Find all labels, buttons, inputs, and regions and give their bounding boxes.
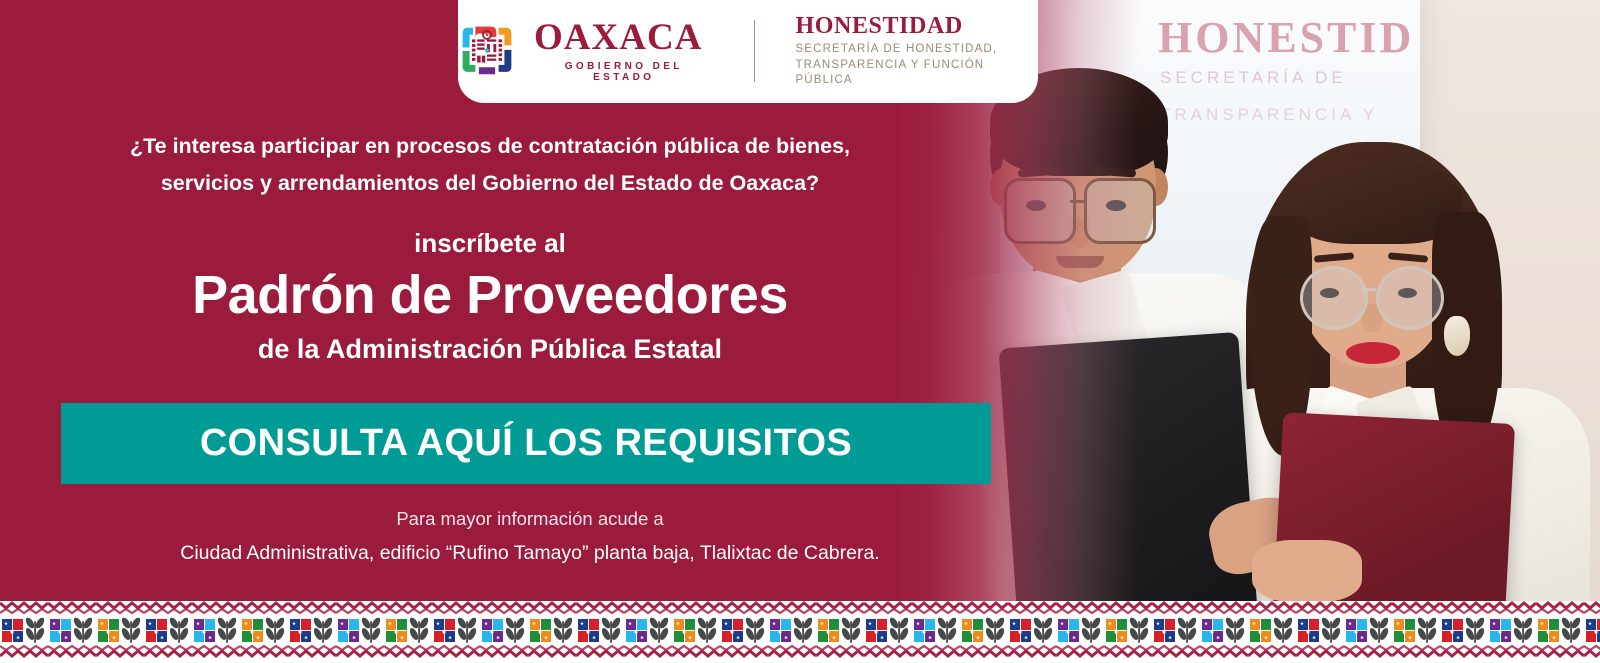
pattern-tile — [192, 601, 240, 663]
pattern-tile — [720, 601, 768, 663]
pattern-tile — [288, 601, 336, 663]
pattern-tile — [96, 601, 144, 663]
info-line-1: Para mayor información acude a — [0, 508, 1060, 530]
pattern-tile — [1248, 601, 1296, 663]
page-title: Padrón de Proveedores — [0, 266, 980, 325]
pattern-tile — [1488, 601, 1536, 663]
woman-hand-lower — [1252, 540, 1362, 601]
pattern-tile — [624, 601, 672, 663]
intro-question: ¿Te interesa participar en procesos de c… — [0, 128, 980, 202]
pattern-tile — [528, 601, 576, 663]
pattern-tile — [1104, 601, 1152, 663]
decorative-pattern-band — [0, 601, 1600, 663]
pattern-tile — [1584, 601, 1600, 663]
woman-glasses-left-lens — [1300, 266, 1368, 330]
pattern-tiles — [0, 601, 1600, 663]
woman-earring — [1444, 316, 1470, 356]
pattern-tile — [768, 601, 816, 663]
page-subtitle: de la Administración Pública Estatal — [0, 334, 980, 365]
pattern-tile — [960, 601, 1008, 663]
info-line-2: Ciudad Administrativa, edificio “Rufino … — [0, 542, 1060, 565]
pattern-tile — [1056, 601, 1104, 663]
pattern-tile — [48, 601, 96, 663]
oaxaca-subtitle: GOBIERNO DEL ESTADO — [534, 61, 714, 83]
pattern-tile — [1392, 601, 1440, 663]
oaxaca-wordmark: OAXACA GOBIERNO DEL ESTADO — [534, 19, 714, 83]
pattern-tile — [672, 601, 720, 663]
pattern-tile — [864, 601, 912, 663]
pattern-tile — [1008, 601, 1056, 663]
pattern-tile — [1296, 601, 1344, 663]
pattern-tile — [1200, 601, 1248, 663]
oaxaca-emblem-icon — [458, 22, 516, 80]
pattern-tile — [240, 601, 288, 663]
honestidad-wordmark: HONESTIDAD SECRETARÍA DE HONESTIDAD, TRA… — [795, 14, 1038, 89]
woman-glasses-bridge — [1362, 288, 1376, 291]
pattern-tile — [432, 601, 480, 663]
honestidad-subtitle: SECRETARÍA DE HONESTIDAD, TRANSPARENCIA … — [795, 42, 1038, 89]
promo-banner: HONESTID SECRETARÍA DE TRANSPARENCIA Y — [0, 0, 1600, 663]
logo-card: OAXACA GOBIERNO DEL ESTADO HONESTIDAD SE… — [458, 0, 1038, 103]
logo-divider — [754, 20, 756, 82]
pattern-tile — [384, 601, 432, 663]
intro-line-2: servicios y arrendamientos del Gobierno … — [0, 165, 980, 202]
consulta-requisitos-button[interactable]: CONSULTA AQUÍ LOS REQUISITOS — [61, 403, 991, 484]
pattern-tile — [1440, 601, 1488, 663]
honestidad-title: HONESTIDAD — [795, 14, 1038, 39]
pattern-tile — [1152, 601, 1200, 663]
pattern-tile — [144, 601, 192, 663]
honestidad-subtitle-line-1: SECRETARÍA DE HONESTIDAD, — [795, 43, 997, 55]
honestidad-subtitle-line-2: TRANSPARENCIA Y FUNCIÓN PÚBLICA — [795, 59, 984, 87]
pattern-tile — [1344, 601, 1392, 663]
kicker-text: inscríbete al — [0, 228, 980, 259]
woman-glasses-right-lens — [1376, 266, 1444, 330]
intro-line-1: ¿Te interesa participar en procesos de c… — [130, 134, 850, 158]
pattern-tile — [0, 601, 48, 663]
pattern-tile — [576, 601, 624, 663]
oaxaca-title: OAXACA — [534, 19, 714, 56]
pattern-tile — [1536, 601, 1584, 663]
pattern-tile — [336, 601, 384, 663]
pattern-tile — [480, 601, 528, 663]
woman-lips — [1346, 342, 1400, 364]
pattern-tile — [912, 601, 960, 663]
pattern-tile — [816, 601, 864, 663]
